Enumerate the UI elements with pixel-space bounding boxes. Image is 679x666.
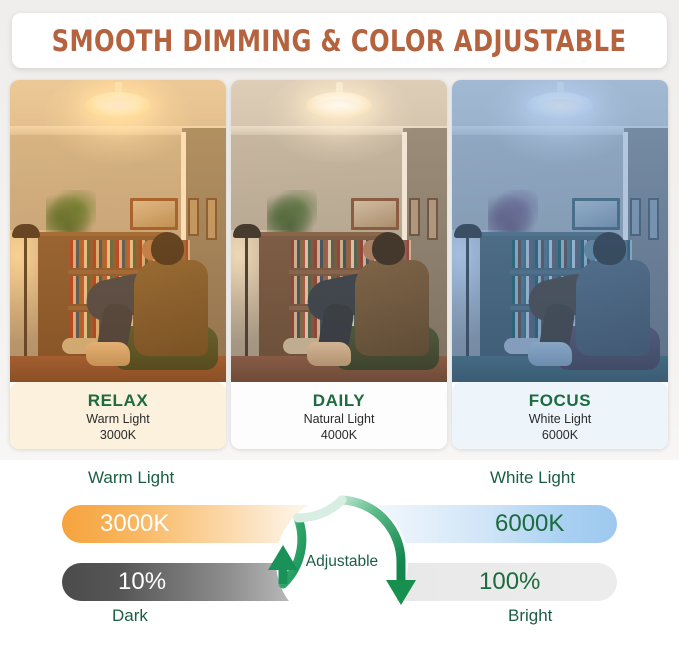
mode-caption-focus: FOCUS White Light 6000K: [452, 382, 668, 449]
arrow-down-icon: [386, 580, 416, 605]
ceiling-light-inner: [319, 99, 359, 112]
floor-lamp-head: [12, 224, 40, 238]
framed-picture: [351, 198, 399, 230]
person-body: [355, 260, 429, 356]
brightness-min-value: 10%: [118, 569, 166, 595]
mode-card-daily[interactable]: DAILY Natural Light 4000K: [231, 80, 447, 449]
room-scene: [231, 80, 447, 382]
person-boot: [528, 342, 572, 366]
floor-lamp-pole: [466, 230, 469, 366]
arrow-up-icon: [268, 545, 298, 570]
floor-lamp-pole: [24, 230, 27, 366]
person-head: [372, 232, 405, 265]
person-boot: [86, 342, 130, 366]
person-body: [134, 260, 208, 356]
mode-name: RELAX: [88, 390, 149, 411]
white-light-label: White Light: [490, 468, 575, 488]
ceiling-light-inner: [540, 99, 580, 112]
mode-kelvin: 3000K: [100, 427, 136, 443]
person-boot: [307, 342, 351, 366]
room-scene: [10, 80, 226, 382]
white-kelvin-value: 6000K: [495, 511, 564, 537]
scene-photo-focus: [452, 80, 668, 382]
floor-lamp-head: [233, 224, 261, 238]
warm-kelvin-value: 3000K: [100, 511, 169, 537]
scene-photo-relax: [10, 80, 226, 382]
mode-light-type: White Light: [529, 411, 592, 427]
title-banner: SMOOTH DIMMING & COLOR ADJUSTABLE: [12, 13, 667, 68]
mode-card-relax[interactable]: RELAX Warm Light 3000K: [10, 80, 226, 449]
room-scene: [452, 80, 668, 382]
mode-kelvin: 4000K: [321, 427, 357, 443]
bright-label: Bright: [508, 606, 552, 626]
cycle-arrows-icon: [268, 488, 416, 636]
page-title: SMOOTH DIMMING & COLOR ADJUSTABLE: [52, 24, 627, 58]
framed-picture-small-2: [427, 198, 438, 240]
person-head: [593, 232, 626, 265]
floor-lamp-pole: [245, 230, 248, 366]
brightness-max-value: 100%: [479, 569, 540, 595]
dark-label: Dark: [112, 606, 148, 626]
scene-photo-daily: [231, 80, 447, 382]
product-infographic: SMOOTH DIMMING & COLOR ADJUSTABLE: [0, 0, 679, 666]
framed-picture-small-2: [648, 198, 659, 240]
person-head: [151, 232, 184, 265]
framed-picture: [130, 198, 178, 230]
mode-light-type: Warm Light: [86, 411, 149, 427]
adjustable-cycle: Adjustable: [268, 488, 416, 636]
mode-kelvin: 6000K: [542, 427, 578, 443]
mode-card-focus[interactable]: FOCUS White Light 6000K: [452, 80, 668, 449]
mode-light-type: Natural Light: [304, 411, 375, 427]
mode-name: DAILY: [313, 390, 365, 411]
framed-picture: [572, 198, 620, 230]
person-body: [576, 260, 650, 356]
floor-lamp-head: [454, 224, 482, 238]
framed-picture-small-1: [630, 198, 641, 236]
mode-name: FOCUS: [529, 390, 592, 411]
framed-picture-small-1: [409, 198, 420, 236]
warm-light-label: Warm Light: [88, 468, 174, 488]
mode-caption-relax: RELAX Warm Light 3000K: [10, 382, 226, 449]
framed-picture-small-2: [206, 198, 217, 240]
framed-picture-small-1: [188, 198, 199, 236]
ceiling-light-inner: [98, 99, 138, 112]
mode-caption-daily: DAILY Natural Light 4000K: [231, 382, 447, 449]
mode-card-row: RELAX Warm Light 3000K: [10, 80, 669, 449]
adjustment-diagram: Warm Light White Light 3000K 6000K 10% 1…: [0, 460, 679, 666]
